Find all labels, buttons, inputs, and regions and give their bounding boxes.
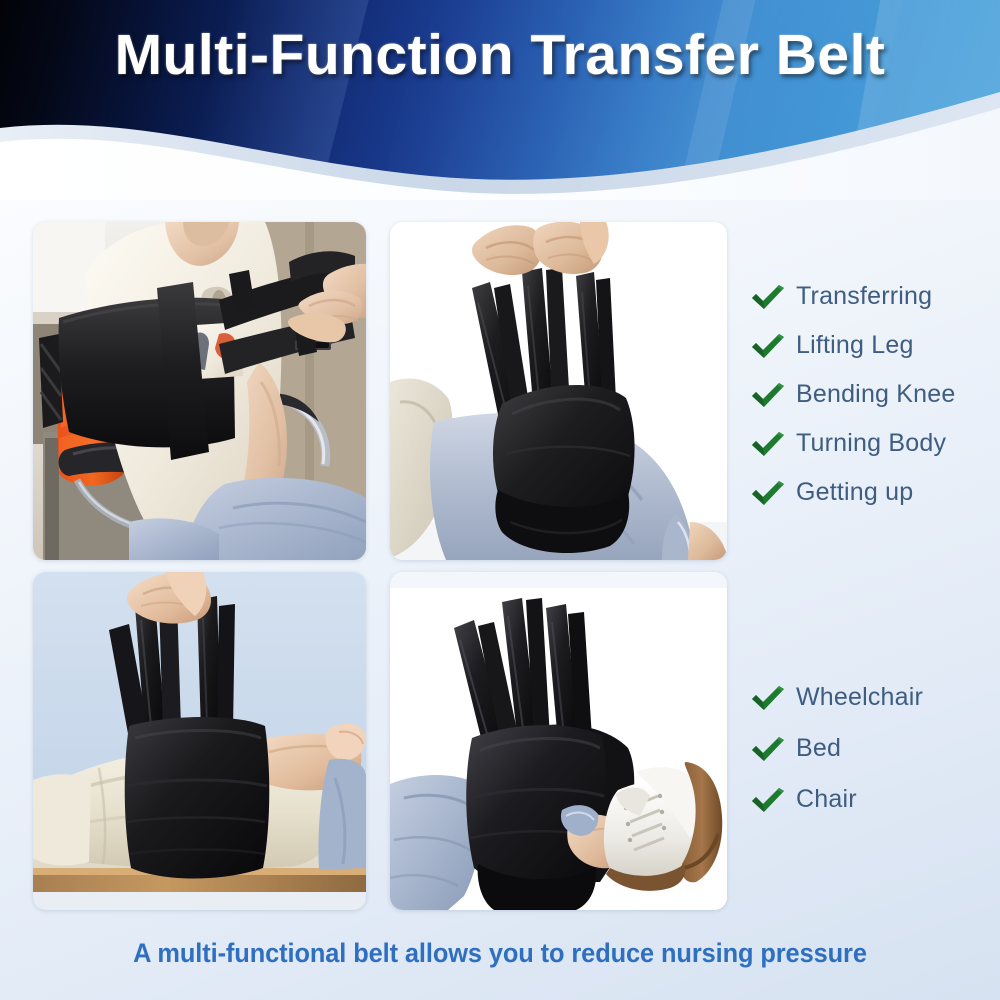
list-item: Chair [748,774,923,825]
bed-transfer-scene-illustration [33,572,366,910]
list-item-label: Turning Body [796,429,946,458]
list-item: Bed [748,723,923,774]
check-icon [748,682,788,714]
check-icon [748,428,788,460]
wheelchair-scene-illustration [33,222,366,560]
product-photo-wheelchair [33,222,366,560]
list-item: Turning Body [748,419,955,468]
list-item-label: Bed [796,734,841,763]
check-icon [748,477,788,509]
product-photo-bed-transfer [33,572,366,910]
leg-lift-scene-illustration [390,222,727,560]
banner-wave-decoration [0,0,1000,200]
list-item: Transferring [748,272,955,321]
list-item: Lifting Leg [748,321,955,370]
list-item-label: Lifting Leg [796,331,914,360]
list-item: Bending Knee [748,370,955,419]
list-item-label: Chair [796,785,857,814]
check-icon [748,784,788,816]
header-banner: Multi-Function Transfer Belt [0,0,1000,200]
footer-caption: A multi-functional belt allows you to re… [30,938,970,969]
check-icon [748,733,788,765]
product-photo-leg-lift-shoe [390,572,727,910]
check-icon [748,330,788,362]
leg-lift-shoe-scene-illustration [390,572,727,910]
list-item-label: Transferring [796,282,932,311]
list-item: Getting up [748,468,955,517]
list-item-label: Getting up [796,478,913,507]
list-item: Wheelchair [748,672,923,723]
product-photo-leg-lift [390,222,727,560]
list-item-label: Wheelchair [796,683,923,712]
check-icon [748,281,788,313]
feature-list-locations: Wheelchair Bed Chair [748,672,923,825]
feature-list-actions: Transferring Lifting Leg Bending Knee Tu… [748,272,955,517]
check-icon [748,379,788,411]
list-item-label: Bending Knee [796,380,955,409]
